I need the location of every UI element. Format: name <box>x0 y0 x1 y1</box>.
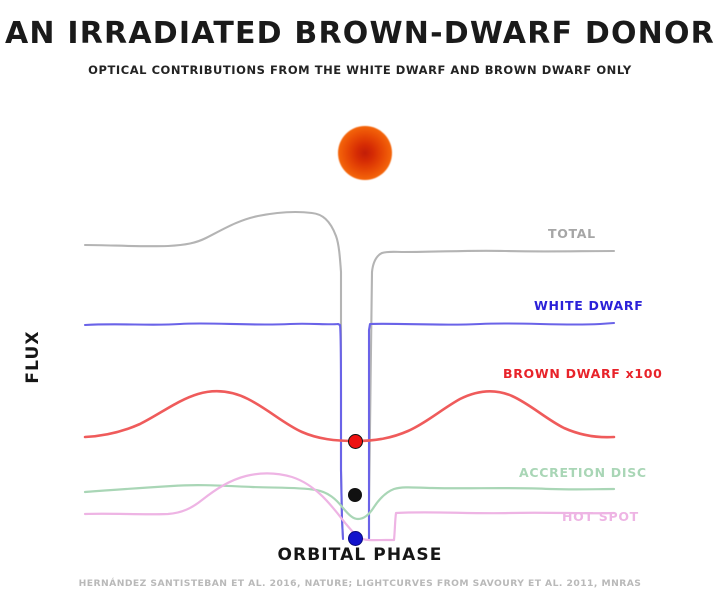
figure-canvas: AN IRRADIATED BROWN-DWARF DONOR OPTICAL … <box>0 0 720 609</box>
x-axis-label: ORBITAL PHASE <box>0 545 720 565</box>
legend-label-white-dwarf: WHITE DWARF <box>534 298 643 313</box>
y-axis-label: FLUX <box>23 312 43 402</box>
series-hot-spot-line <box>85 473 614 540</box>
legend-label-brown-dwarf: BROWN DWARF x100 <box>503 366 663 381</box>
white-dwarf-eclipse-marker <box>348 531 363 546</box>
series-white-dwarf-line <box>85 323 614 539</box>
accretion-disc-eclipse-marker <box>348 488 362 502</box>
brown-dwarf-eclipse-marker <box>348 434 363 449</box>
series-brown-dwarf-line <box>85 391 614 441</box>
legend-label-accretion-disc: ACCRETION DISC <box>519 465 647 480</box>
legend-label-hot-spot: HOT SPOT <box>562 509 639 524</box>
figure-credit: HERNÁNDEZ SANTISTEBAN ET AL. 2016, NATUR… <box>0 578 720 589</box>
legend-label-total: TOTAL <box>548 226 596 241</box>
